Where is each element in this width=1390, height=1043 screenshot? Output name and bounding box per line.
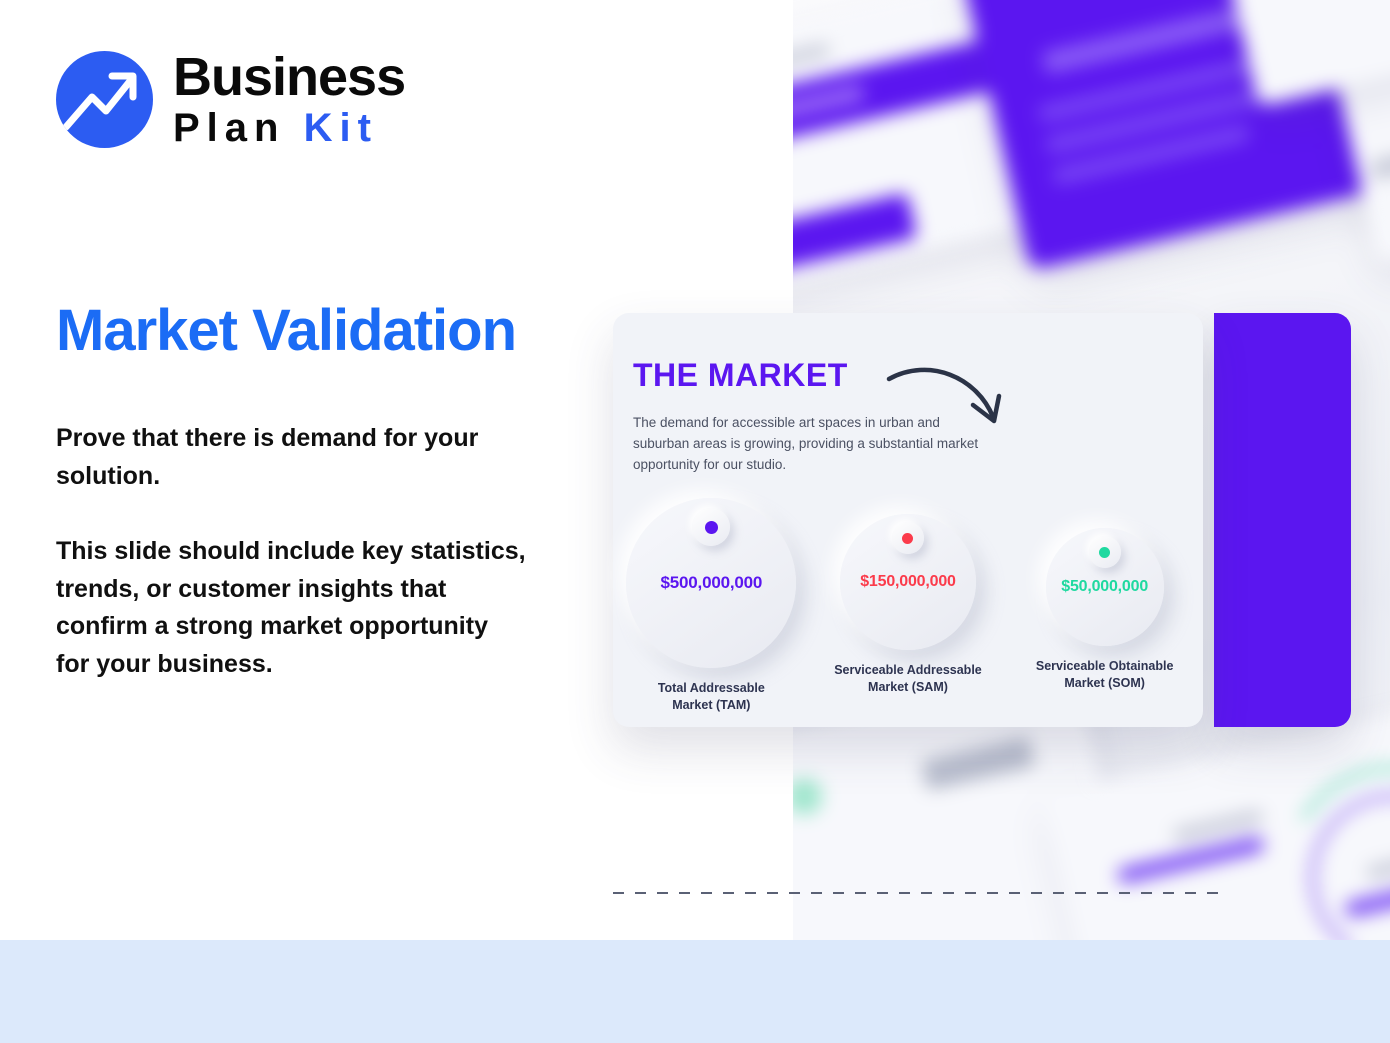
- curved-arrow-down-right-icon: [885, 355, 1015, 440]
- metric-tam[interactable]: $500,000,000 Total Addressable Market (T…: [622, 498, 800, 714]
- metric-label: Total Addressable Market (TAM): [658, 680, 765, 714]
- metric-label: Serviceable Addressable Market (SAM): [834, 662, 982, 696]
- slide-page: Business Plan Kit Market Validation Prov…: [0, 0, 1390, 1043]
- metric-label-line1: Total Addressable: [658, 681, 765, 695]
- dashed-connector-line: [613, 892, 1227, 894]
- metric-knob: [892, 522, 924, 554]
- metric-som[interactable]: $50,000,000 Serviceable Obtainable Marke…: [1016, 528, 1194, 692]
- metric-dot-icon: [902, 533, 913, 544]
- slide-preview-card[interactable]: THE MARKET The demand for accessible art…: [613, 313, 1203, 727]
- metric-amount: $50,000,000: [1061, 578, 1148, 596]
- brand-word-plan: Plan: [173, 106, 285, 150]
- metric-label: Serviceable Obtainable Market (SOM): [1036, 658, 1174, 692]
- lead-paragraph: Prove that there is demand for your solu…: [56, 420, 576, 495]
- brand-word-kit: Kit: [304, 106, 378, 150]
- metric-disc: $50,000,000: [1046, 528, 1164, 646]
- metric-dot-icon: [705, 521, 718, 534]
- market-metrics-group: $500,000,000 Total Addressable Market (T…: [613, 498, 1203, 713]
- metric-label-line2: Market (SAM): [868, 680, 948, 694]
- brand-wordmark: Business Plan Kit: [173, 50, 405, 148]
- metric-amount: $150,000,000: [860, 573, 955, 591]
- metric-knob: [1089, 536, 1121, 568]
- metric-knob: [692, 508, 730, 546]
- metric-label-line1: Serviceable Addressable: [834, 663, 982, 677]
- accent-block: [1214, 313, 1351, 727]
- page-title: Market Validation: [56, 297, 516, 364]
- metric-sam[interactable]: $150,000,000 Serviceable Addressable Mar…: [819, 514, 997, 696]
- metric-dot-icon: [1099, 547, 1110, 558]
- brand-name-plan-kit: Plan Kit: [173, 108, 405, 148]
- brand-logo[interactable]: Business Plan Kit: [56, 50, 405, 148]
- metric-amount: $500,000,000: [661, 573, 763, 593]
- metric-label-line2: Market (SOM): [1064, 676, 1145, 690]
- metric-label-line2: Market (TAM): [672, 698, 750, 712]
- market-heading: THE MARKET: [633, 357, 848, 394]
- brand-name-business: Business: [173, 50, 405, 104]
- growth-arrow-circle-icon: [56, 51, 153, 148]
- metric-disc: $500,000,000: [626, 498, 796, 668]
- metric-label-line1: Serviceable Obtainable: [1036, 659, 1174, 673]
- body-paragraph: This slide should include key statistics…: [56, 533, 526, 683]
- background-slide-mockup: [1042, 692, 1390, 940]
- footer-band: [0, 940, 1390, 1043]
- metric-disc: $150,000,000: [840, 514, 976, 650]
